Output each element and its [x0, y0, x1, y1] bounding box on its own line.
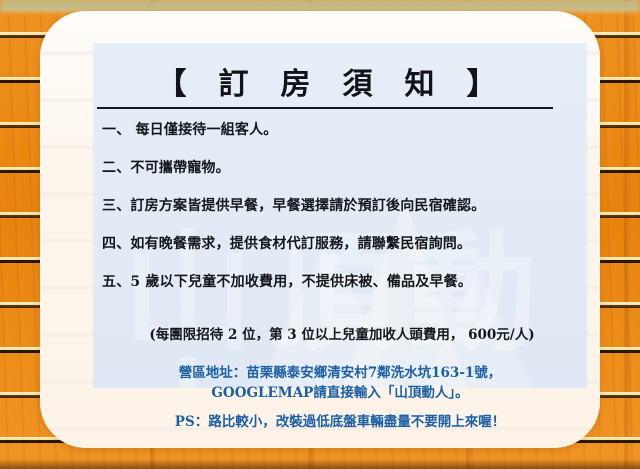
rules-list: 一、 每日僅接待一組客人。 二、不可攜帶寵物。 三、訂房方案皆提供早餐，早餐選擇… — [102, 119, 572, 309]
camp-address-line2: GOOGLEMAP請直接輸入「山頂動人」。 — [90, 383, 590, 403]
list-item: 一、 每日僅接待一組客人。 — [102, 119, 572, 139]
notice-card: 山頂動人 【 訂 房 須 知 】 一、 每日僅接待一組客人。 二、不可攜帶寵物。… — [40, 11, 600, 448]
poster-stage: 山頂動人 【 訂 房 須 知 】 一、 每日僅接待一組客人。 二、不可攜帶寵物。… — [0, 0, 640, 469]
camp-address-line1: 營區地址：苗栗縣泰安鄉清安村7鄰洗水坑163-1號， — [179, 365, 502, 381]
list-item: 四、如有晚餐需求，提供食材代訂服務，請聯繫民宿詢問。 — [102, 233, 572, 253]
page-title: 【 訂 房 須 知 】 — [97, 59, 557, 103]
list-item: 二、不可攜帶寵物。 — [102, 157, 572, 177]
title-underline — [97, 107, 553, 109]
list-item: 五、5 歲以下兒童不加收費用，不提供床被、備品及早餐。 — [102, 271, 572, 291]
list-item: 三、訂房方案皆提供早餐，早餐選擇請於預訂後向民宿確認。 — [102, 195, 572, 215]
children-fee-note: (每團限招待 2 位，第 3 位以上兒童加收人頭費用， 600元/人) — [102, 323, 582, 343]
ps-note: PS：路比較小，改裝過低底盤車輛盡量不要開上來喔！ — [90, 410, 590, 430]
bottom-shadow — [0, 459, 640, 469]
camp-address: 營區地址：苗栗縣泰安鄉清安村7鄰洗水坑163-1號， GOOGLEMAP請直接輸… — [90, 363, 590, 403]
notice-content: 【 訂 房 須 知 】 一、 每日僅接待一組客人。 二、不可攜帶寵物。 三、訂房… — [40, 11, 600, 448]
